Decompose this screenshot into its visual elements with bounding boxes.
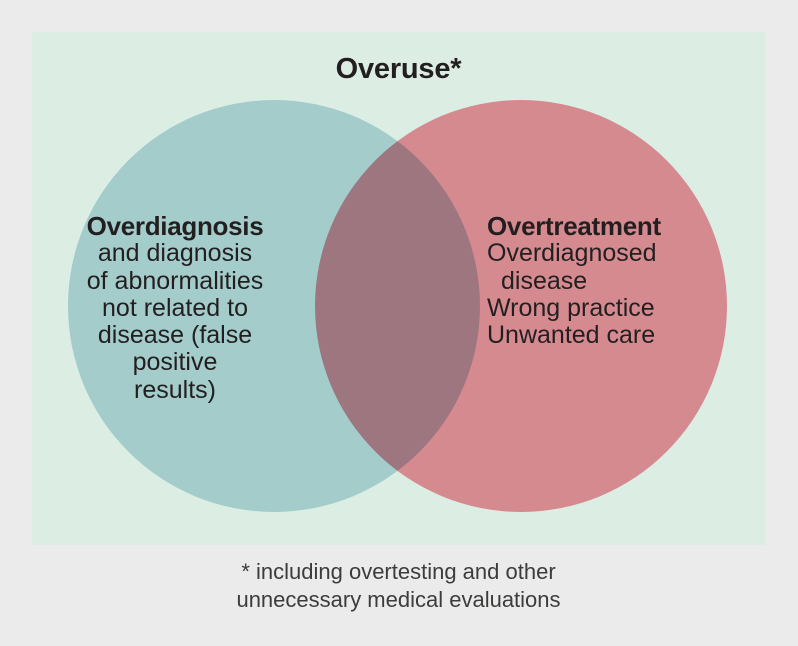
footnote-line: unnecessary medical evaluations	[32, 586, 765, 614]
venn-panel: Overuse* Overdiagnosis and diagnosis of …	[32, 32, 765, 545]
venn-text-line: positive	[42, 349, 308, 376]
footnote-line: * including overtesting and other	[32, 558, 765, 586]
venn-text-line: and diagnosis	[42, 240, 308, 267]
venn-text-line: of abnormalities	[42, 268, 308, 295]
venn-diagram-figure: Overuse* Overdiagnosis and diagnosis of …	[0, 0, 798, 646]
venn-text-line: Unwanted care	[487, 322, 739, 349]
venn-heading-overtreatment: Overtreatment	[487, 212, 739, 240]
venn-label-overdiagnosis: Overdiagnosis and diagnosis of abnormali…	[42, 212, 308, 404]
venn-heading-overdiagnosis: Overdiagnosis	[42, 212, 308, 240]
venn-text-line: Overdiagnosed	[487, 240, 739, 267]
venn-text-line: not related to	[42, 295, 308, 322]
figure-footnote: * including overtesting and other unnece…	[32, 558, 765, 613]
venn-text-line: Wrong practice	[487, 295, 739, 322]
venn-text-line: disease	[487, 268, 739, 295]
venn-label-overtreatment: Overtreatment Overdiagnosed disease Wron…	[487, 212, 739, 349]
venn-text-line: results)	[42, 377, 308, 404]
venn-text-line: disease (false	[42, 322, 308, 349]
diagram-title: Overuse*	[32, 54, 765, 86]
